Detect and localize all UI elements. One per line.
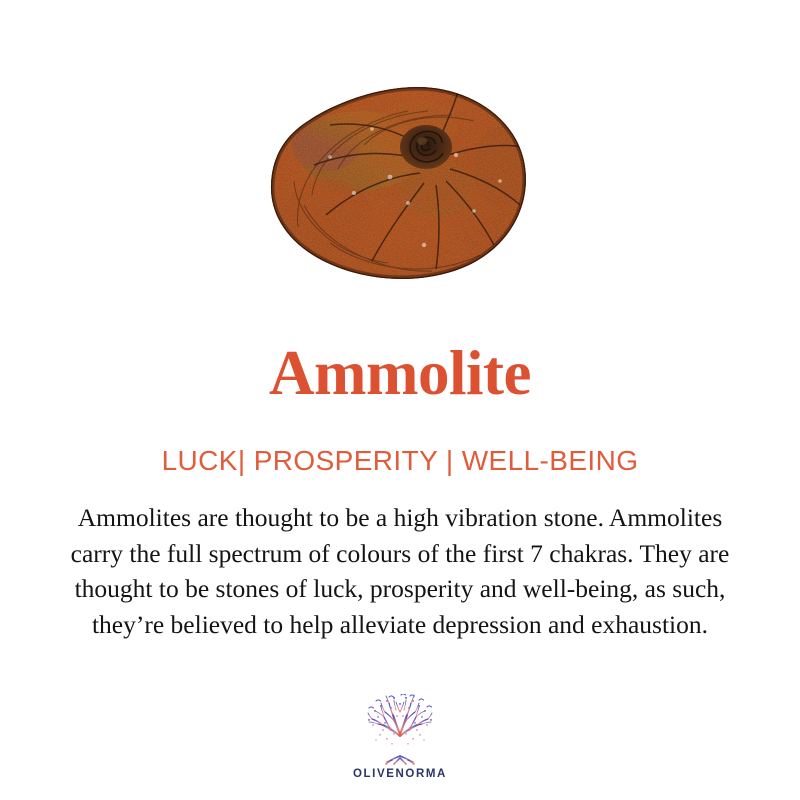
specimen-image-container — [0, 78, 800, 288]
brand-logo: OLIVENORMA — [0, 694, 800, 780]
ammolite-fossil-shell-icon — [268, 85, 532, 281]
tree-of-life-icon — [361, 694, 439, 766]
page-title: Ammolite — [0, 338, 800, 408]
description-text: Ammolites are thought to be a high vibra… — [55, 500, 745, 642]
brand-name: OLIVENORMA — [353, 768, 447, 780]
keyword-tagline: LUCK| PROSPERITY | WELL-BEING — [0, 444, 800, 478]
ammolite-info-card: Ammolite LUCK| PROSPERITY | WELL-BEING A… — [0, 0, 800, 800]
